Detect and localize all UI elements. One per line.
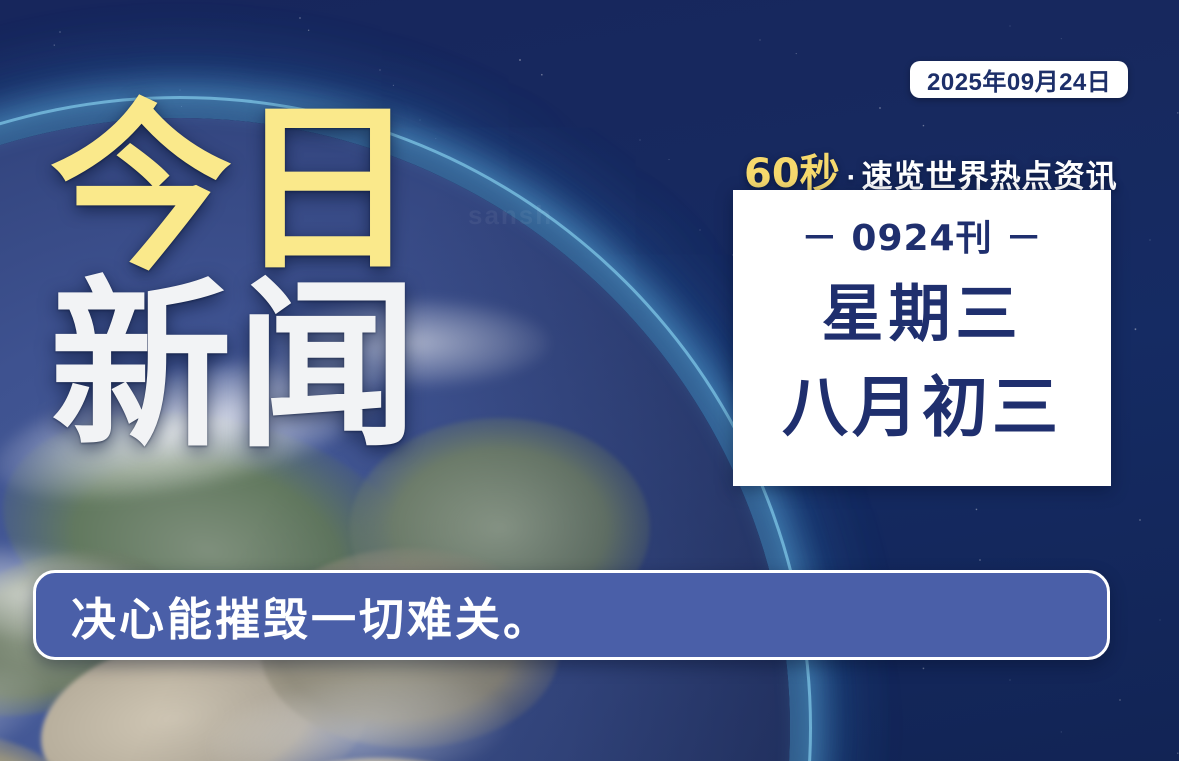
lunar-date-label: 八月初三 bbox=[782, 375, 1062, 441]
background-watermark: sansh bbox=[468, 200, 553, 231]
issue-dash-right: － bbox=[1006, 209, 1043, 261]
quote-bar: 决心能摧毁一切难关。 bbox=[33, 570, 1110, 660]
masthead-line-news: 新闻 bbox=[50, 281, 422, 452]
news-poster: sansh 2025年09月24日 今日 新闻 60秒 · 速览世界热点资讯 －… bbox=[0, 0, 1179, 761]
issue-number-label: 0924刊 bbox=[851, 209, 992, 261]
quote-text: 决心能摧毁一切难关。 bbox=[71, 583, 551, 648]
date-badge: 2025年09月24日 bbox=[910, 61, 1128, 98]
issue-info-card: － 0924刊 － 星期三 八月初三 bbox=[733, 190, 1111, 486]
masthead-line-today: 今日 bbox=[50, 104, 422, 275]
weekday-label: 星期三 bbox=[821, 283, 1022, 345]
issue-dash-left: － bbox=[801, 209, 838, 261]
issue-row: － 0924刊 － bbox=[801, 209, 1042, 261]
masthead: 今日 新闻 bbox=[50, 104, 422, 452]
